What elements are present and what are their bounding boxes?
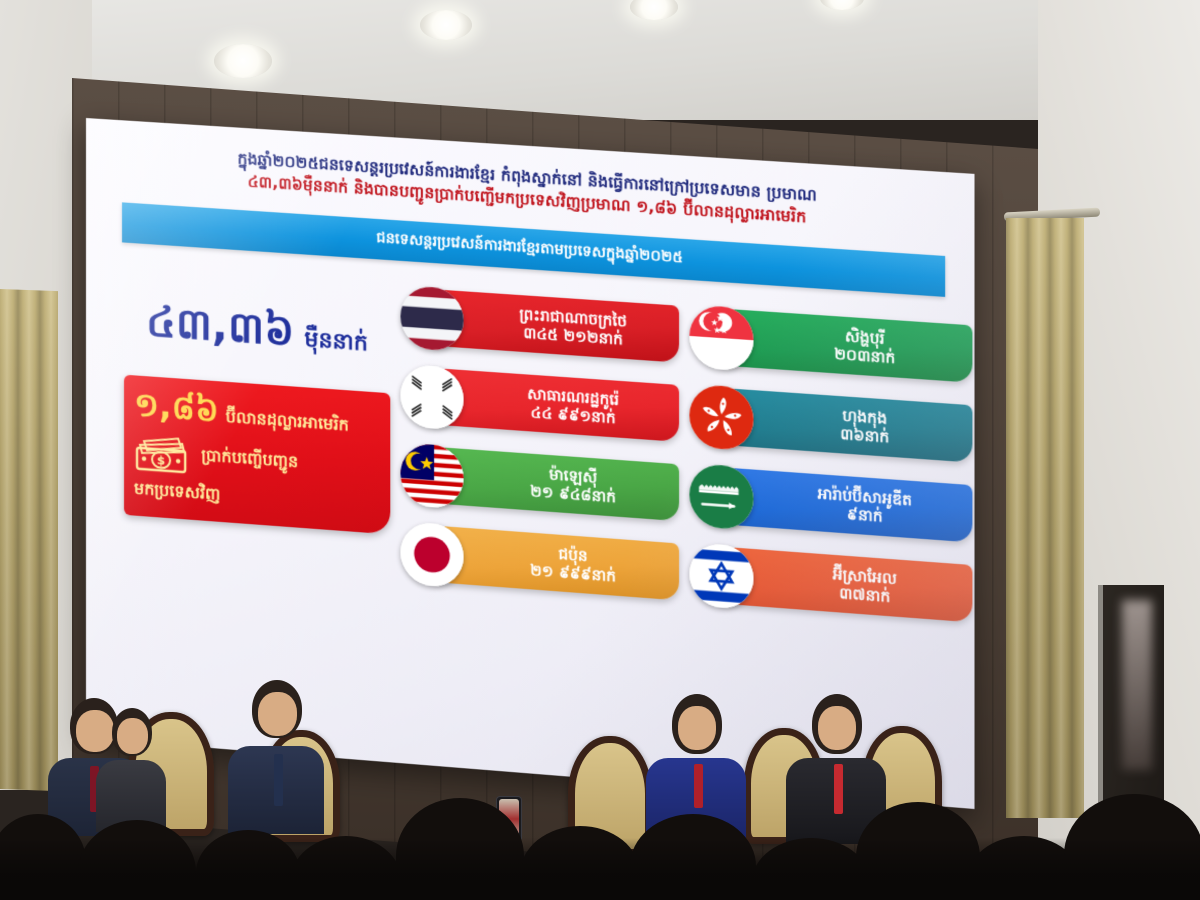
person-face [678, 706, 716, 750]
remittance-caption: ប្រាក់បញ្ចើបញ្ជូន [201, 444, 298, 475]
total-migrants-number: ៤៣,៣៦ [146, 300, 294, 352]
svg-text:$: $ [157, 453, 165, 468]
country-count: ២០៣នាក់ [834, 344, 895, 367]
total-migrants-unit: ម៉ឺននាក់ [304, 325, 368, 362]
seated-official [96, 700, 166, 830]
country-column-left: ព្រះរាជាណាចក្រថៃ ៣៤៥ ២១២នាក់ សាធារណរដ្ឋក… [396, 283, 679, 619]
banner-text: ជនទេសន្តរប្រវេសន៍ការងារខ្មែរតាមប្រទេសក្ន… [376, 228, 683, 269]
summary-column: ៤៣,៣៦ ម៉ឺននាក់ ១,៨៦ ប៊ីលានដុល្លារអាមេរិក [120, 264, 390, 597]
slide-body: ៤៣,៣៦ ម៉ឺននាក់ ១,៨៦ ប៊ីលានដុល្លារអាមេរិក [104, 263, 956, 639]
total-migrants-stat: ៤៣,៣៦ ម៉ឺននាក់ [124, 299, 390, 363]
country-count: ៣៧នាក់ [839, 583, 890, 606]
country-name: ជប៉ុន [558, 544, 587, 564]
seated-official [228, 680, 324, 832]
audience-foreground [0, 670, 1200, 900]
remittance-amount: ១,៨៦ [134, 387, 219, 426]
country-pill-saudi-arabia[interactable]: អារ៉ាប់ប៊ីសាអូឌីត ៩នាក់ [685, 461, 972, 547]
country-pill-korea[interactable]: សាធារណរដ្ឋកូរ៉េ ៤៤ ៩៩១នាក់ [396, 361, 679, 446]
country-pill-singapore[interactable]: សិង្ហបុរី ២០៣នាក់ [685, 302, 972, 387]
person-face [258, 692, 297, 736]
country-pill-hongkong[interactable]: ហុងកុង ៣៦នាក់ [685, 381, 972, 466]
country-column-right: សិង្ហបុរី ២០៣នាក់ [685, 302, 972, 641]
ceiling-light-icon [420, 10, 472, 40]
necktie [834, 764, 843, 814]
remittance-currency: ប៊ីលានដុល្លារអាមេរិក [226, 406, 349, 439]
remittance-headline: ១,៨៦ ប៊ីលានដុល្លារអាមេរិក [134, 387, 378, 440]
necktie [274, 754, 283, 806]
country-pill-thailand[interactable]: ព្រះរាជាណាចក្រថៃ ៣៤៥ ២១២នាក់ [396, 283, 679, 367]
country-pill-japan[interactable]: ជប៉ុន ២១ ៩៩៩នាក់ [396, 519, 679, 605]
country-count: ២១ ៩៤៨នាក់ [530, 482, 616, 507]
country-count: ៣៦នាក់ [840, 424, 889, 447]
country-pill-malaysia[interactable]: ម៉ាឡេស៊ី ២១ ៩៤៨នាក់ [396, 440, 679, 525]
person-face [117, 718, 148, 754]
ceiling-light-icon [214, 44, 272, 78]
lanyard [694, 764, 703, 808]
conference-room-scene: ក្នុងឆ្នាំ២០២៥ជនទេសន្តរប្រវេសន៍ការងារខ្ម… [0, 0, 1200, 900]
country-count: ៩នាក់ [847, 504, 883, 526]
remittance-card: ១,៨៦ ប៊ីលានដុល្លារអាមេរិក $ [124, 375, 390, 535]
audience-row [0, 838, 1200, 900]
country-count: ២១ ៩៩៩នាក់ [530, 561, 616, 586]
person-face [818, 706, 856, 750]
banknote-icon: $ [134, 432, 192, 474]
country-pill-israel[interactable]: អ៊ីស្រាអែល ៣៧នាក់ [685, 540, 972, 627]
